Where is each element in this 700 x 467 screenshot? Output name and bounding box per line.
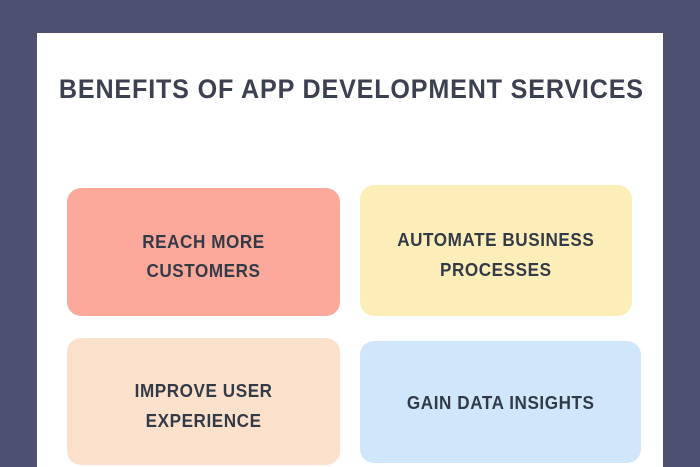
benefit-card-reach-more-customers[interactable]: REACH MORE CUSTOMERS: [67, 188, 340, 316]
benefit-card-label: IMPROVE USER EXPERIENCE: [135, 377, 273, 435]
benefit-card-label-line1: AUTOMATE BUSINESS: [397, 230, 594, 250]
benefit-card-label: REACH MORE CUSTOMERS: [142, 228, 265, 286]
benefit-card-label: GAIN DATA INSIGHTS: [407, 389, 595, 418]
benefit-card-label: AUTOMATE BUSINESS PROCESSES: [397, 226, 594, 284]
benefit-card-label-line2: PROCESSES: [440, 260, 552, 280]
benefit-card-label-line1: IMPROVE USER: [135, 381, 273, 401]
benefit-card-automate-business-processes[interactable]: AUTOMATE BUSINESS PROCESSES: [360, 185, 632, 316]
benefit-card-label-line1: GAIN DATA INSIGHTS: [407, 393, 595, 413]
benefit-card-improve-user-experience[interactable]: IMPROVE USER EXPERIENCE: [67, 338, 340, 465]
benefits-card-grid: REACH MORE CUSTOMERS AUTOMATE BUSINESS P…: [67, 152, 641, 452]
benefit-card-gain-data-insights[interactable]: GAIN DATA INSIGHTS: [360, 341, 641, 463]
infographic-canvas: BENEFITS OF APP DEVELOPMENT SERVICES REA…: [0, 0, 700, 467]
benefit-card-label-line2: CUSTOMERS: [146, 261, 260, 281]
benefit-card-label-line1: REACH MORE: [142, 232, 265, 252]
benefit-card-label-line2: EXPERIENCE: [146, 411, 262, 431]
content-panel: BENEFITS OF APP DEVELOPMENT SERVICES REA…: [37, 33, 663, 467]
page-title: BENEFITS OF APP DEVELOPMENT SERVICES: [59, 76, 641, 103]
